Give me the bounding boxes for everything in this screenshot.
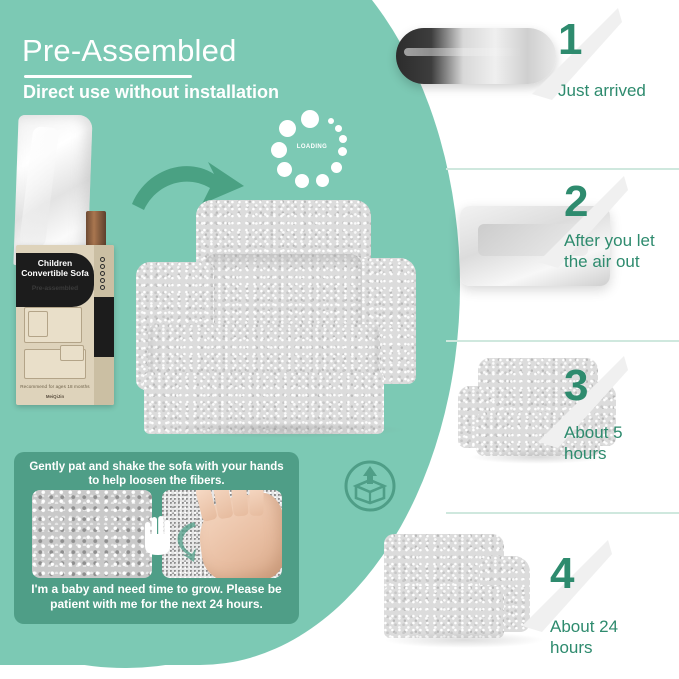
box-brand: MeiQiJin — [16, 394, 94, 399]
box-age-note: Recommend for ages 18 months — [16, 384, 94, 389]
palm-hand-icon — [143, 512, 173, 556]
hand-photo — [194, 490, 282, 578]
step-4-number: 4 — [550, 552, 573, 596]
fiber-tip-panel: Gently pat and shake the sofa with your … — [14, 452, 299, 624]
box-icon-dots — [96, 257, 112, 292]
open-box-up-arrow-icon — [344, 460, 396, 512]
tip-bottom-text: I'm a baby and need time to grow. Please… — [22, 582, 291, 612]
step-1-label: Just arrived — [558, 80, 674, 101]
box-figure-bed-pillow — [60, 345, 84, 361]
step-divider-1 — [446, 168, 679, 170]
step-1: 1 Just arrived — [446, 0, 679, 168]
box-side-band — [94, 297, 114, 357]
tip-top-text: Gently pat and shake the sofa with your … — [24, 460, 289, 488]
packaging-illustration: Children Convertible Sofa Pre-assembled … — [12, 115, 124, 405]
step-2-number: 2 — [564, 180, 587, 224]
step-1-number: 1 — [558, 18, 581, 62]
product-box: Children Convertible Sofa Pre-assembled … — [16, 245, 114, 405]
loose-fiber-fabric-photo — [32, 490, 152, 578]
page-title: Pre-Assembled — [22, 33, 237, 69]
box-title: Children Convertible Sofa — [16, 258, 94, 278]
step-3: 3 About 5 hours — [446, 344, 679, 512]
page-subtitle: Direct use without installation — [23, 82, 279, 103]
hand-patting-fabric-photo — [162, 490, 282, 578]
step-2: 2 After you let the air out — [446, 172, 679, 340]
step-divider-3 — [446, 512, 679, 514]
product-infographic: Pre-Assembled Direct use without install… — [0, 0, 679, 679]
step-4: 4 About 24 hours — [446, 516, 679, 679]
plastic-bag — [13, 115, 92, 265]
step-3-label: About 5 hours — [564, 422, 668, 464]
step-divider-2 — [446, 340, 679, 342]
box-subtitle: Pre-assembled — [16, 285, 94, 292]
step-2-label: After you let the air out — [564, 230, 668, 272]
step-3-number: 3 — [564, 364, 587, 408]
title-underline — [24, 75, 192, 78]
sofa-shadow — [156, 422, 406, 438]
box-figure-chair-back — [28, 311, 48, 337]
loading-spinner-icon: LOADING — [271, 110, 353, 192]
spinner-label: LOADING — [271, 144, 353, 150]
steps-column: 1 Just arrived 2 After you let the air o… — [446, 0, 679, 679]
step-4-label: About 24 hours — [550, 616, 662, 658]
main-sofa-image — [126, 196, 416, 440]
